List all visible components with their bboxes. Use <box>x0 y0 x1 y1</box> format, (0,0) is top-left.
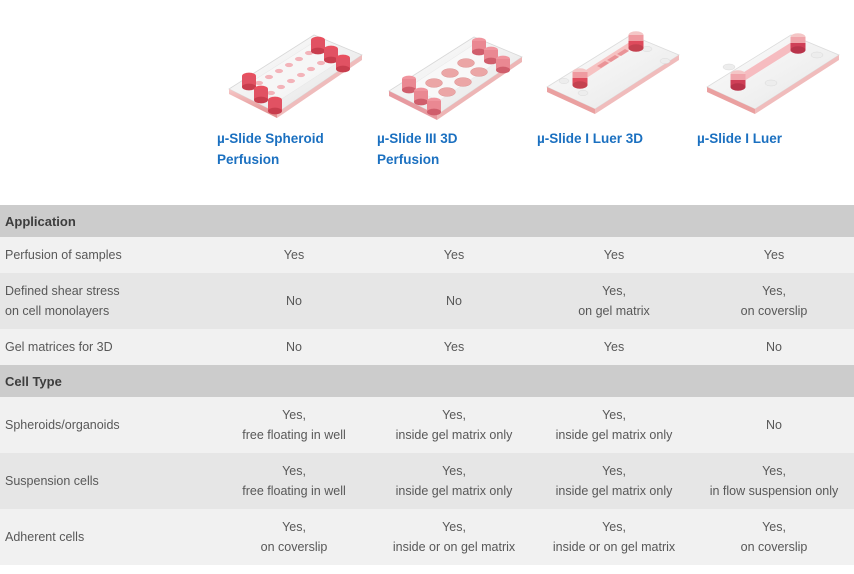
cell-line: Yes <box>538 245 690 265</box>
table-cell: Yes, on coverslip <box>694 273 854 329</box>
cell-line: Yes, <box>218 405 370 425</box>
row-label: Perfusion of samples <box>0 237 214 273</box>
cell-line: Yes, <box>698 517 850 537</box>
cell-line: Yes <box>378 337 530 357</box>
cell-line: Yes, <box>378 517 530 537</box>
cell-line: inside or on gel matrix <box>378 537 530 557</box>
table-cell: No <box>694 397 854 453</box>
section-header-row-cell-type: Cell Type <box>0 365 854 397</box>
cell-line: Yes, <box>218 517 370 537</box>
product-title-link-3[interactable]: µ-Slide I Luer 3D <box>534 128 694 149</box>
row-label: Spheroids/organoids <box>0 397 214 453</box>
cell-line: No <box>698 415 850 435</box>
table-row: Spheroids/organoids Yes, free floating i… <box>0 397 854 453</box>
row-label-line1: Defined shear stress <box>5 281 206 301</box>
table-cell: Yes, inside gel matrix only <box>534 397 694 453</box>
row-label: Defined shear stress on cell monolayers <box>0 273 214 329</box>
cell-line: in flow suspension only <box>698 481 850 501</box>
table-row: Gel matrices for 3D No Yes Yes No <box>0 329 854 365</box>
table-cell: Yes <box>694 237 854 273</box>
section-header-row-application: Application <box>0 205 854 237</box>
cell-line: on coverslip <box>698 537 850 557</box>
table-cell: Yes <box>534 329 694 365</box>
product-title-line1: µ-Slide III 3D <box>377 128 528 149</box>
table-row: Defined shear stress on cell monolayers … <box>0 273 854 329</box>
product-comparison-page: µ-Slide Spheroid Perfusion <box>0 0 854 565</box>
cell-line: Yes <box>698 245 850 265</box>
cell-line: Yes, <box>538 281 690 301</box>
product-header-row: µ-Slide Spheroid Perfusion <box>0 0 854 205</box>
cell-line: No <box>698 337 850 357</box>
cell-line: free floating in well <box>218 481 370 501</box>
product-title-line2: Perfusion <box>217 149 368 170</box>
product-column-1: µ-Slide Spheroid Perfusion <box>214 0 374 205</box>
product-title-line1: µ-Slide Spheroid <box>217 128 368 149</box>
cell-line: Yes, <box>698 281 850 301</box>
product-title-line2: Perfusion <box>377 149 528 170</box>
product-title-link-2[interactable]: µ-Slide III 3D Perfusion <box>374 128 534 170</box>
comparison-table: Application Perfusion of samples Yes Yes… <box>0 205 854 565</box>
cell-line: inside gel matrix only <box>538 425 690 445</box>
table-cell: No <box>214 273 374 329</box>
table-cell: Yes <box>214 237 374 273</box>
table-cell: No <box>694 329 854 365</box>
product-column-2: µ-Slide III 3D Perfusion <box>374 0 534 205</box>
product-title-link-1[interactable]: µ-Slide Spheroid Perfusion <box>214 128 374 170</box>
table-row: Suspension cells Yes, free floating in w… <box>0 453 854 509</box>
cell-line: inside gel matrix only <box>538 481 690 501</box>
cell-line: Yes, <box>218 461 370 481</box>
cell-line: Yes <box>538 337 690 357</box>
cell-line: on gel matrix <box>538 301 690 321</box>
cell-line: on coverslip <box>218 537 370 557</box>
cell-line: inside gel matrix only <box>378 425 530 445</box>
table-cell: No <box>374 273 534 329</box>
cell-line: Yes, <box>698 461 850 481</box>
table-cell: Yes, free floating in well <box>214 397 374 453</box>
slide-spheroid-perfusion-photo[interactable] <box>214 0 374 128</box>
table-cell: Yes, free floating in well <box>214 453 374 509</box>
table-row: Adherent cells Yes, on coverslip Yes, in… <box>0 509 854 565</box>
table-cell: Yes, inside or on gel matrix <box>534 509 694 565</box>
cell-line: Yes, <box>538 461 690 481</box>
slide-i-luer-photo[interactable] <box>694 0 854 128</box>
cell-line: Yes, <box>378 405 530 425</box>
product-title-line1: µ-Slide I Luer <box>697 128 848 149</box>
table-cell: No <box>214 329 374 365</box>
product-column-4: µ-Slide I Luer <box>694 0 854 205</box>
cell-line: on coverslip <box>698 301 850 321</box>
row-label: Adherent cells <box>0 509 214 565</box>
comparison-table-body: Application Perfusion of samples Yes Yes… <box>0 205 854 565</box>
cell-line: Yes, <box>378 461 530 481</box>
table-cell: Yes, inside or on gel matrix <box>374 509 534 565</box>
table-cell: Yes, on gel matrix <box>534 273 694 329</box>
table-cell: Yes, inside gel matrix only <box>374 397 534 453</box>
cell-line: Yes, <box>538 405 690 425</box>
table-cell: Yes, in flow suspension only <box>694 453 854 509</box>
product-title-line1: µ-Slide I Luer 3D <box>537 128 688 149</box>
table-cell: Yes <box>534 237 694 273</box>
table-cell: Yes <box>374 237 534 273</box>
table-cell: Yes, inside gel matrix only <box>534 453 694 509</box>
cell-line: inside or on gel matrix <box>538 537 690 557</box>
cell-line: inside gel matrix only <box>378 481 530 501</box>
table-cell: Yes <box>374 329 534 365</box>
cell-line: Yes <box>378 245 530 265</box>
cell-line: No <box>218 337 370 357</box>
cell-line: No <box>218 291 370 311</box>
section-header-label: Cell Type <box>0 365 854 397</box>
table-cell: Yes, inside gel matrix only <box>374 453 534 509</box>
table-cell: Yes, on coverslip <box>214 509 374 565</box>
cell-line: Yes <box>218 245 370 265</box>
slide-iii-3d-perfusion-photo[interactable] <box>374 0 534 128</box>
slide-i-luer-3d-photo[interactable] <box>534 0 694 128</box>
cell-line: No <box>378 291 530 311</box>
table-cell: Yes, on coverslip <box>694 509 854 565</box>
row-label: Suspension cells <box>0 453 214 509</box>
cell-line: free floating in well <box>218 425 370 445</box>
product-title-link-4[interactable]: µ-Slide I Luer <box>694 128 854 149</box>
section-header-label: Application <box>0 205 854 237</box>
row-label: Gel matrices for 3D <box>0 329 214 365</box>
table-row: Perfusion of samples Yes Yes Yes Yes <box>0 237 854 273</box>
header-spacer <box>0 0 214 205</box>
product-column-3: µ-Slide I Luer 3D <box>534 0 694 205</box>
row-label-line2: on cell monolayers <box>5 301 206 321</box>
cell-line: Yes, <box>538 517 690 537</box>
